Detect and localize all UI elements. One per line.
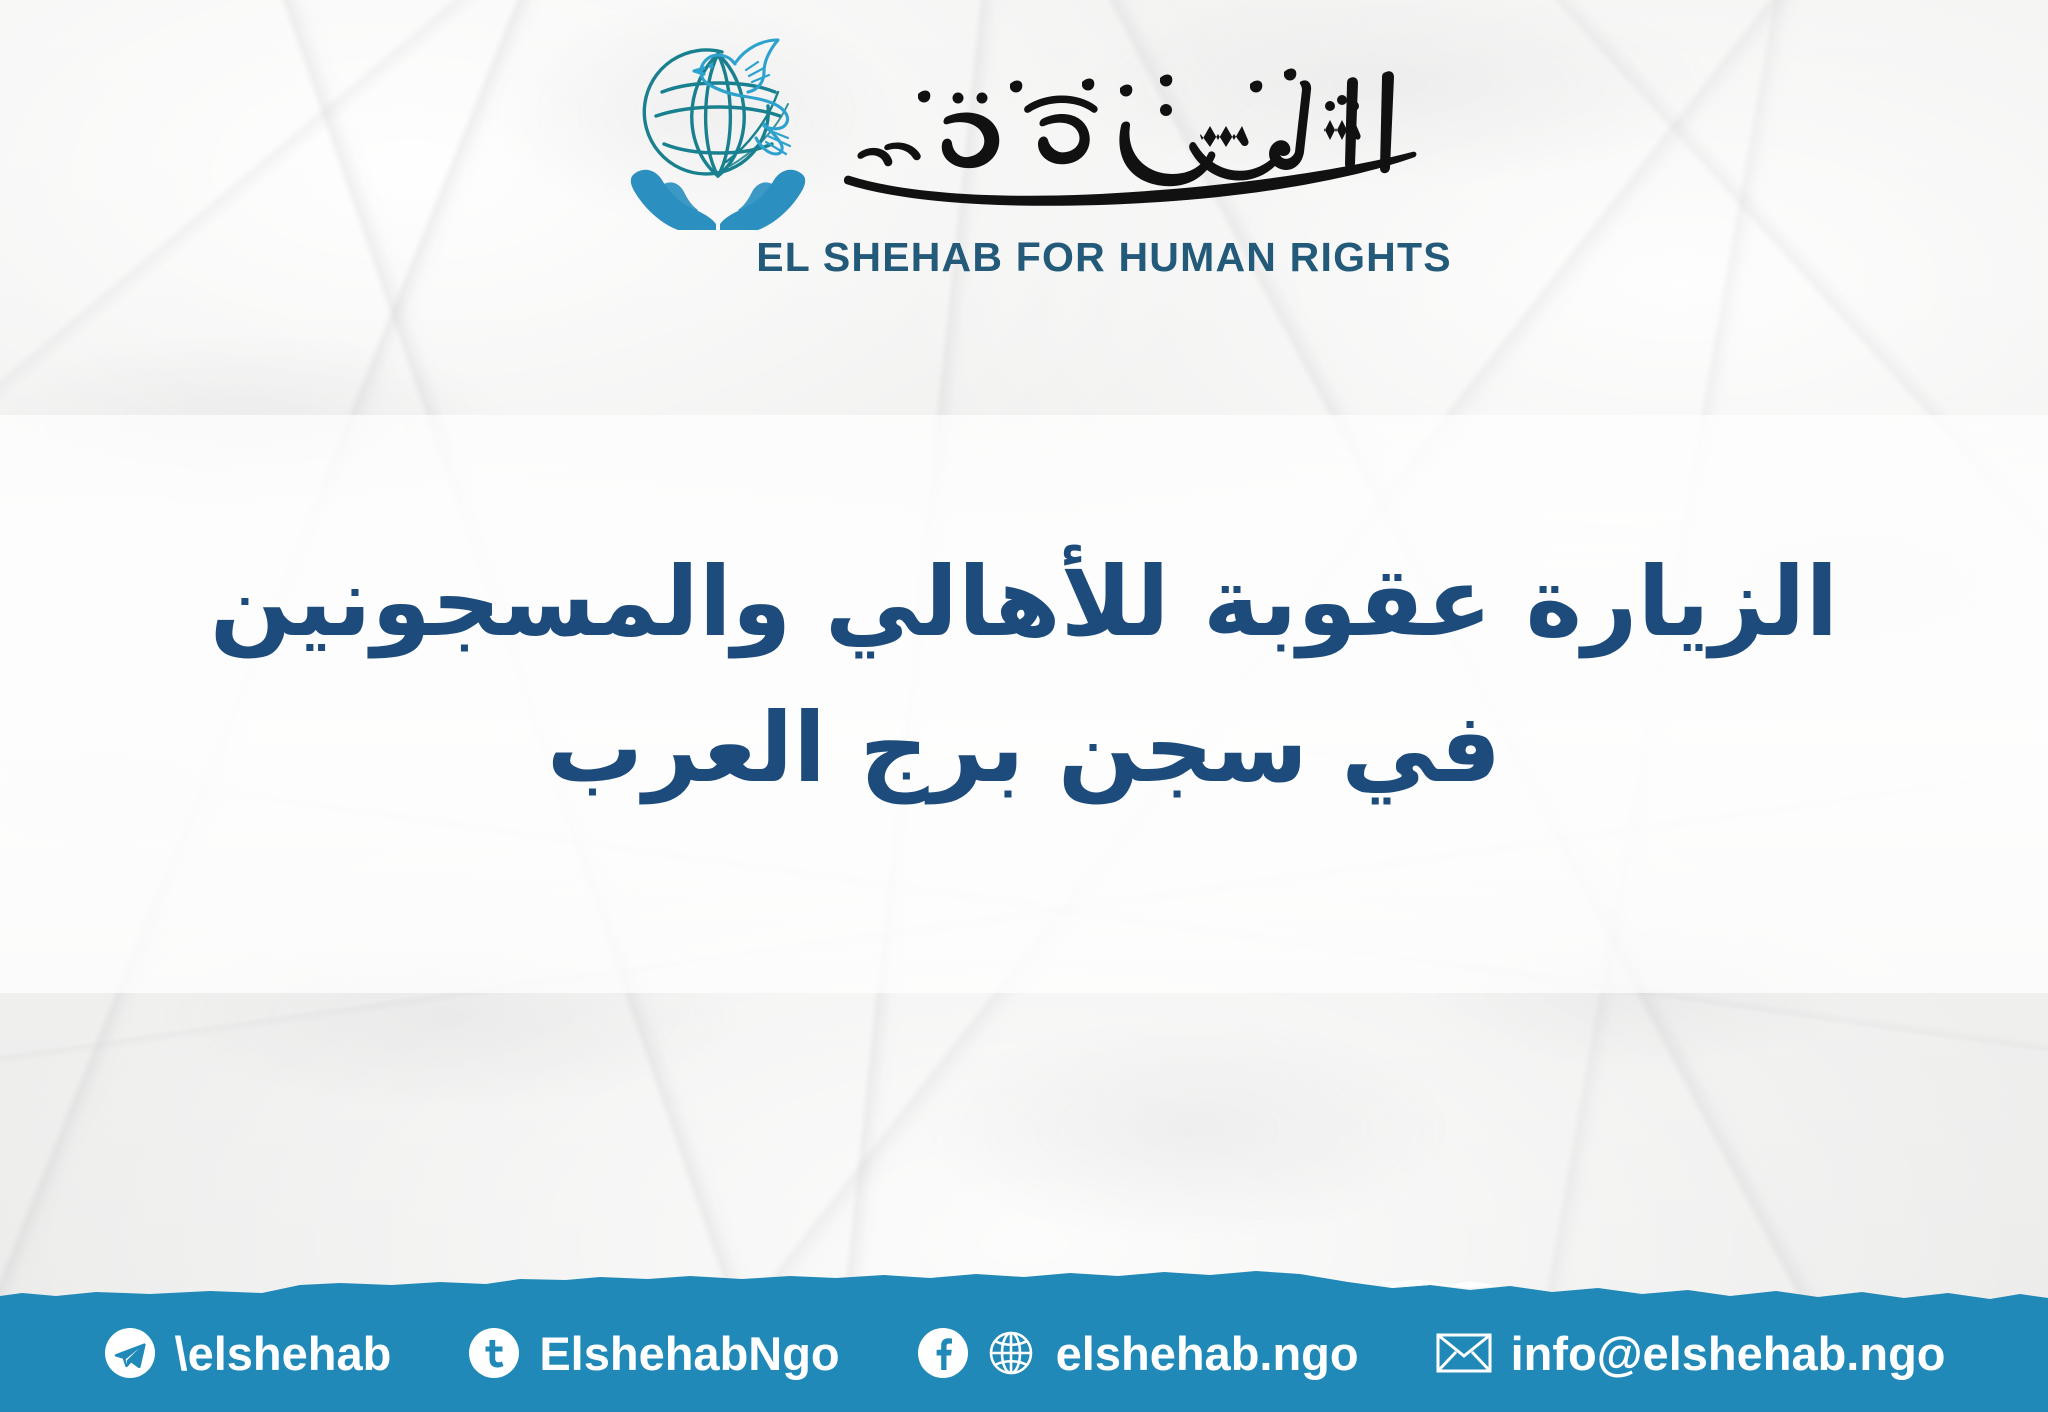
contact-twitter[interactable]: ElshehabNgo: [467, 1326, 839, 1380]
logo-row: [618, 34, 1430, 230]
poster-canvas: EL SHEHAB FOR HUMAN RIGHTS الزيارة عقوبة…: [0, 0, 2048, 1412]
headline-line-2: في سجن برج العرب: [170, 676, 1878, 822]
organization-name-en: EL SHEHAB FOR HUMAN RIGHTS: [756, 234, 1452, 281]
contact-twitter-label: ElshehabNgo: [539, 1330, 839, 1377]
facebook-icon: [916, 1326, 970, 1380]
email-icon: [1435, 1330, 1493, 1376]
contact-email[interactable]: info@elshehab.ngo: [1435, 1330, 1946, 1377]
contact-telegram[interactable]: \elshehab: [103, 1326, 392, 1380]
contact-website-label: elshehab.ngo: [1056, 1330, 1359, 1377]
footer-bar: \elshehab ElshehabNgo: [0, 1252, 2048, 1412]
footer-contact-list: \elshehab ElshehabNgo: [0, 1252, 2048, 1412]
dove-globe-hands-icon: [618, 34, 818, 230]
contact-email-label: info@elshehab.ngo: [1511, 1330, 1946, 1377]
headline-line-1: الزيارة عقوبة للأهالي والمسجونين: [170, 530, 1878, 676]
globe-icon: [984, 1326, 1038, 1380]
organization-logo-block: EL SHEHAB FOR HUMAN RIGHTS: [0, 34, 2048, 281]
contact-telegram-label: \elshehab: [175, 1330, 392, 1377]
headline: الزيارة عقوبة للأهالي والمسجونين في سجن …: [170, 530, 1878, 822]
telegram-icon: [103, 1326, 157, 1380]
contact-website[interactable]: elshehab.ngo: [916, 1326, 1359, 1380]
arabic-calligraphy-wordmark: [830, 48, 1430, 216]
twitter-icon: [467, 1326, 521, 1380]
